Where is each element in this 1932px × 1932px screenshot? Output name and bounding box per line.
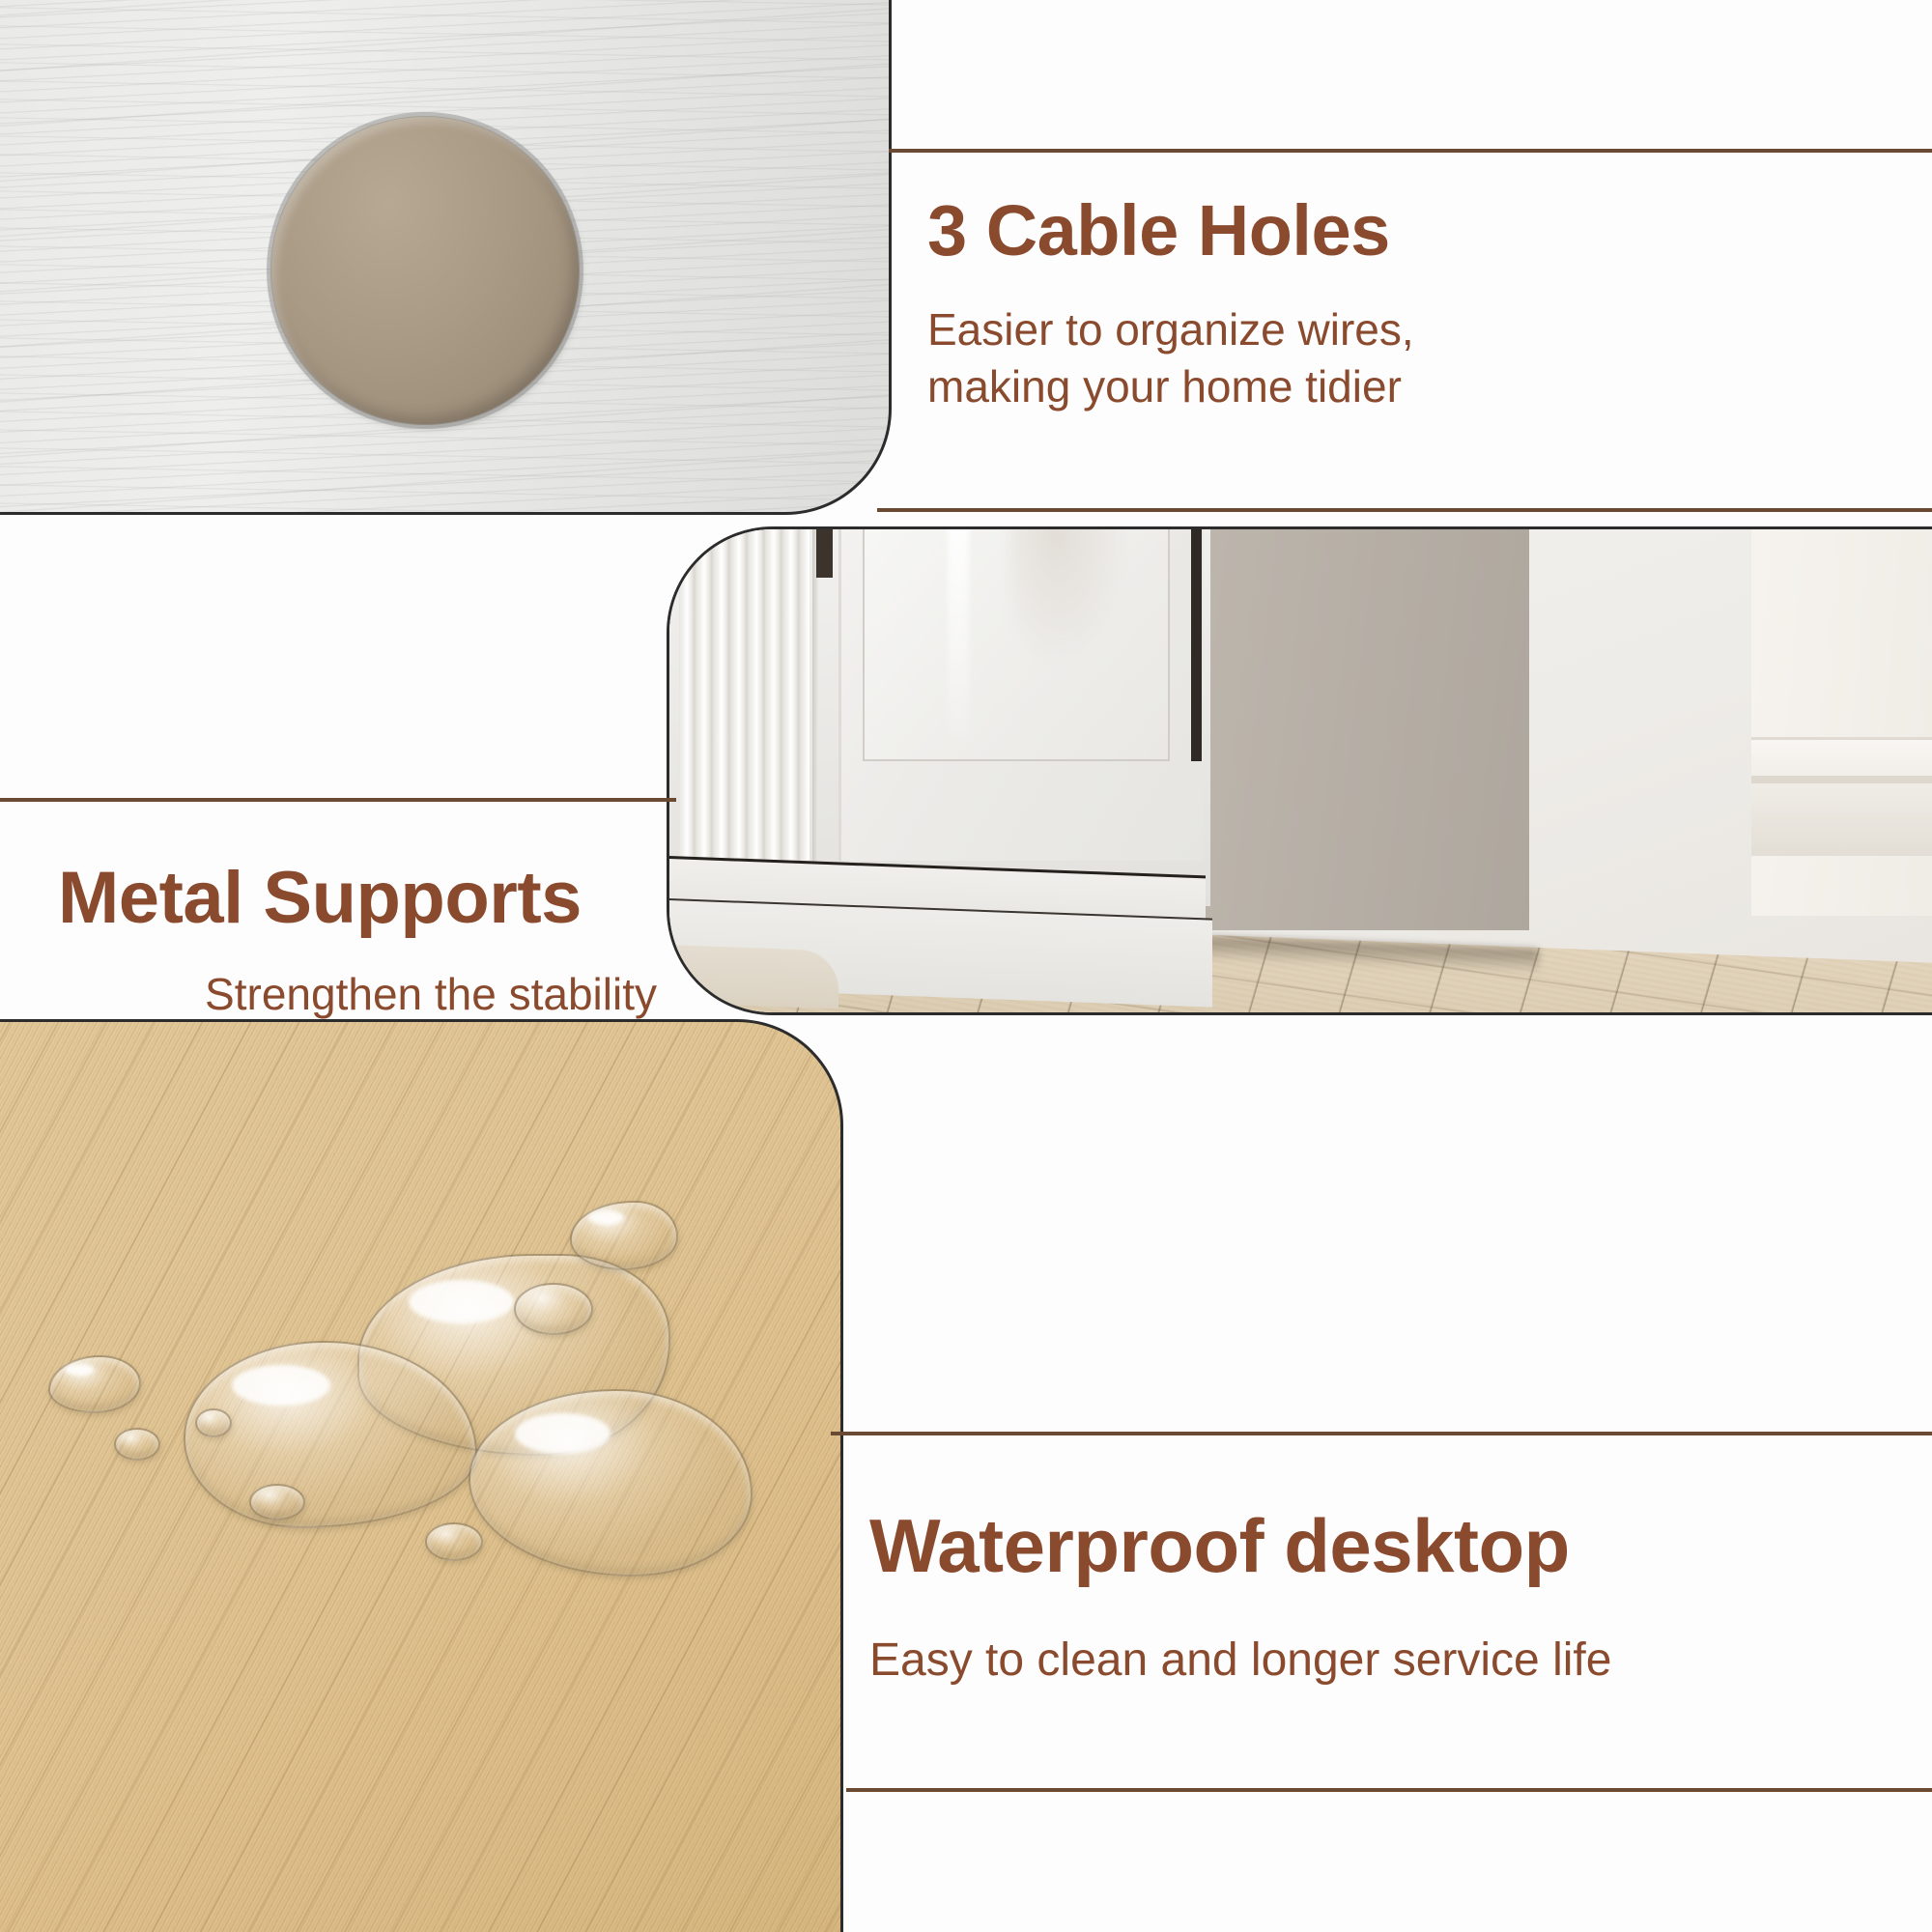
divider-top-metal	[0, 798, 676, 802]
wall-baseboard	[1751, 737, 1932, 856]
water-spill-right	[469, 1389, 753, 1577]
door-dark-edge	[1191, 526, 1202, 761]
water-droplet-left-b	[114, 1428, 160, 1461]
metal-supports-subtitle-line1: Strengthen the stability	[58, 966, 657, 1023]
cable-hole-photo	[0, 0, 892, 515]
waterproof-desktop-photo	[0, 1019, 843, 1932]
cable-holes-title: 3 Cable Holes	[927, 193, 1893, 269]
cable-holes-subtitle: Easier to organize wires, making your ho…	[927, 301, 1893, 415]
cabinet-front-body	[669, 526, 1210, 906]
water-droplet-bottom-a	[249, 1484, 305, 1520]
metal-supports-title: Metal Supports	[58, 860, 657, 937]
cabinet-photo	[667, 526, 1932, 1015]
cabinet-side-panel	[1196, 526, 1529, 930]
cable-holes-text-block: 3 Cable Holes Easier to organize wires, …	[927, 193, 1893, 414]
cabinet-toe-kick-notch	[669, 945, 838, 1009]
cabinet-glossy-door	[838, 526, 1204, 861]
water-droplet-left-c	[195, 1408, 232, 1437]
waterproof-text-block: Waterproof desktop Easy to clean and lon…	[869, 1507, 1922, 1690]
door-reflection	[1010, 526, 1126, 665]
infographic-canvas: 3 Cable Holes Easier to organize wires, …	[0, 0, 1932, 1932]
cable-holes-subtitle-line1: Easier to organize wires,	[927, 301, 1893, 358]
water-droplet-small-a	[514, 1283, 593, 1335]
waterproof-title: Waterproof desktop	[869, 1507, 1922, 1586]
water-droplet-bottom-b	[425, 1522, 483, 1561]
cable-hole-circle	[270, 116, 580, 425]
cable-holes-subtitle-line2: making your home tidier	[927, 358, 1893, 415]
right-wall	[1751, 529, 1932, 916]
divider-top-cable	[889, 149, 1932, 153]
divider-top-water	[831, 1432, 1932, 1435]
water-droplet-upper-right	[570, 1201, 678, 1270]
cabinet-door-edge	[812, 529, 818, 863]
waterproof-subtitle: Easy to clean and longer service life	[869, 1631, 1922, 1690]
cabinet-hinge-gap	[816, 526, 833, 578]
divider-bottom-cable	[877, 508, 1932, 512]
water-droplet-left-a	[48, 1355, 141, 1413]
wall-baseboard-trim	[1751, 776, 1932, 783]
divider-bottom-water	[846, 1788, 1932, 1792]
fluted-panel	[679, 527, 810, 861]
door-gloss-highlight	[948, 526, 969, 737]
